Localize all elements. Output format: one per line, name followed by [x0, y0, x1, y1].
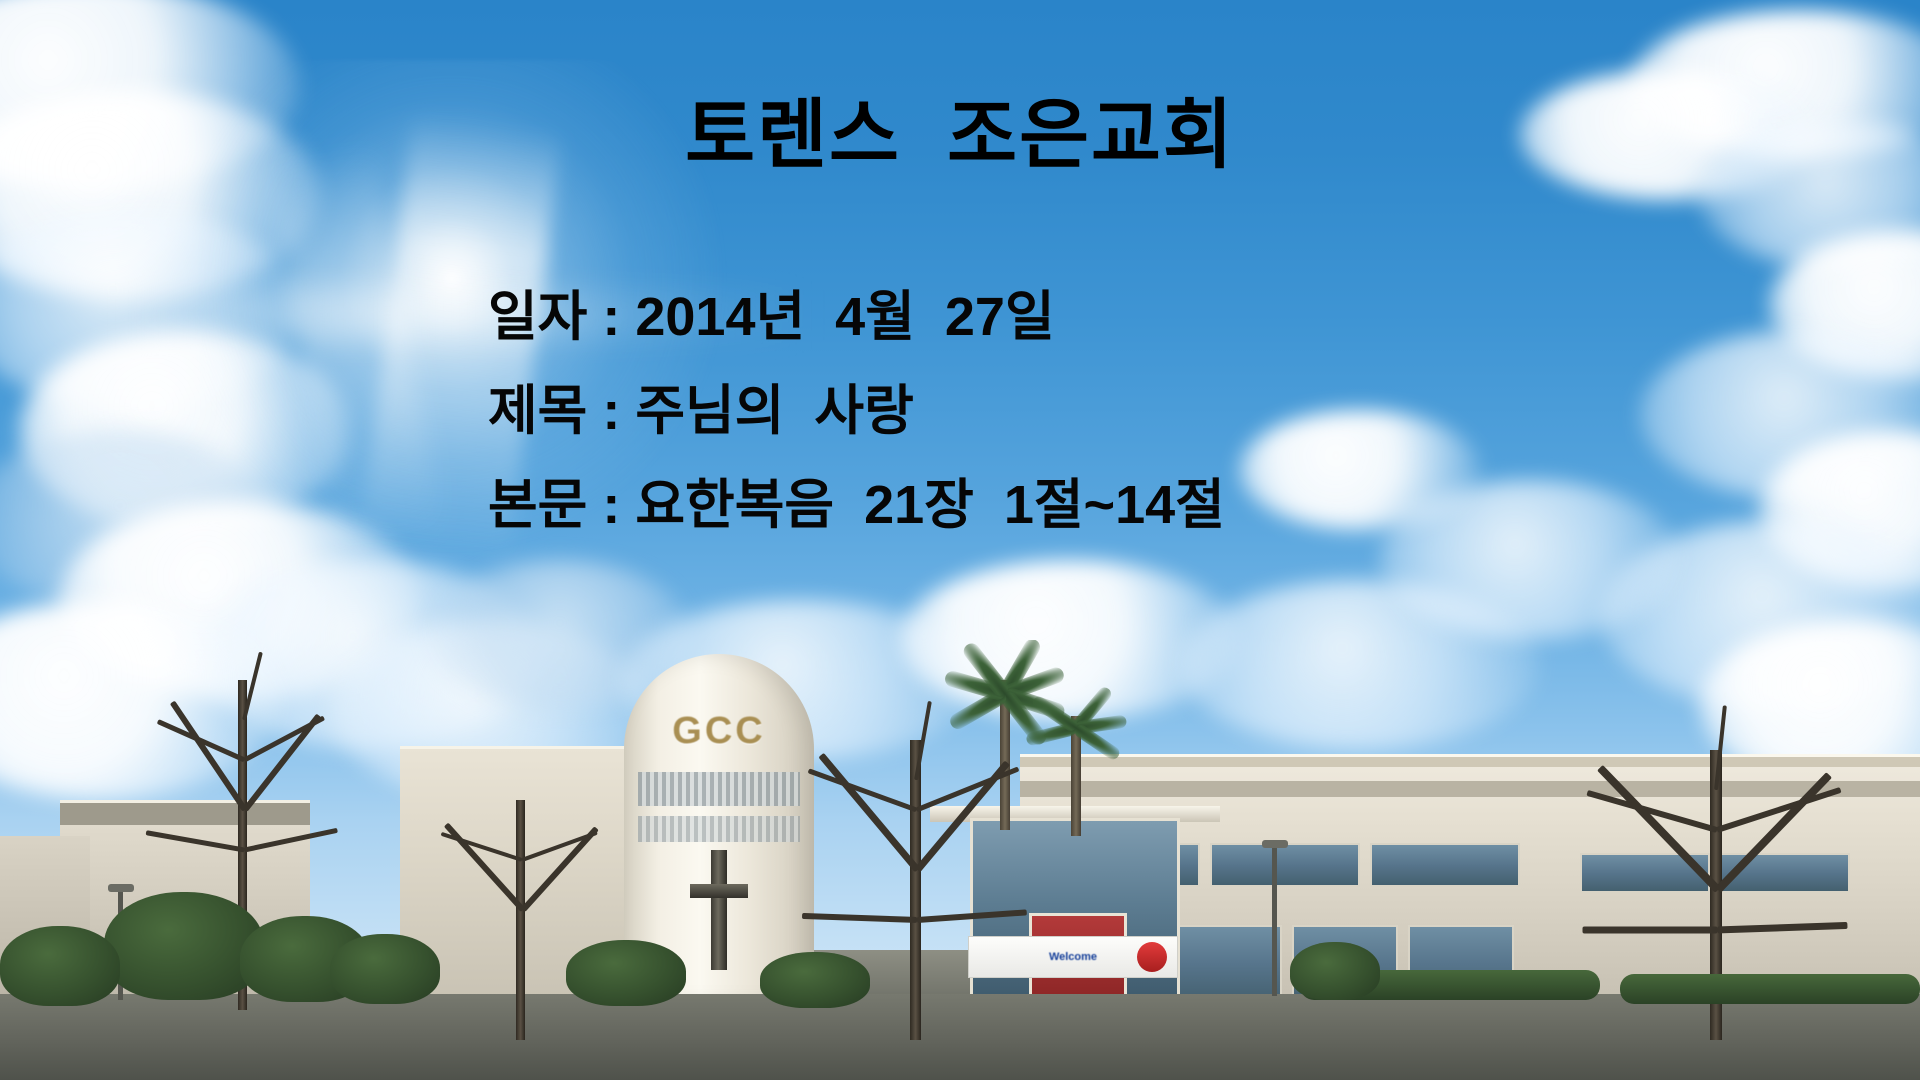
window [1210, 843, 1360, 887]
shrub [0, 926, 120, 1006]
tower-grille [638, 816, 800, 842]
sermon-subject-line: 제목 : 주님의 사랑 [488, 384, 1688, 438]
shrub [330, 934, 440, 1004]
sermon-date-line: 일자 : 2014년 4월 27일 [488, 290, 1688, 344]
window [1370, 843, 1520, 887]
light-pole [1272, 846, 1277, 996]
sermon-passage-line: 본문 : 요한복음 21장 1절~14절 [488, 478, 1688, 532]
cross-icon [690, 850, 748, 970]
hedge [1620, 974, 1920, 1004]
page-title: 토렌스 조은교회 [0, 96, 1920, 176]
entrance-banner-text: Welcome [1049, 951, 1097, 963]
shrub [760, 952, 870, 1008]
tower-grille [638, 772, 800, 806]
banner-dot-icon [1137, 942, 1167, 972]
shrub [566, 940, 686, 1006]
sermon-title-slide: GCC 19950 [0, 0, 1920, 1080]
shrub [104, 892, 264, 1000]
tower-gcc-sign: GCC [624, 710, 814, 753]
window [1176, 925, 1282, 1003]
shrub [1290, 942, 1380, 1000]
sermon-info-block: 일자 : 2014년 4월 27일 제목 : 주님의 사랑 본문 : 요한복음 … [488, 290, 1688, 572]
church-building-photo: GCC 19950 [0, 640, 1920, 1080]
palm-tree [1036, 716, 1116, 836]
